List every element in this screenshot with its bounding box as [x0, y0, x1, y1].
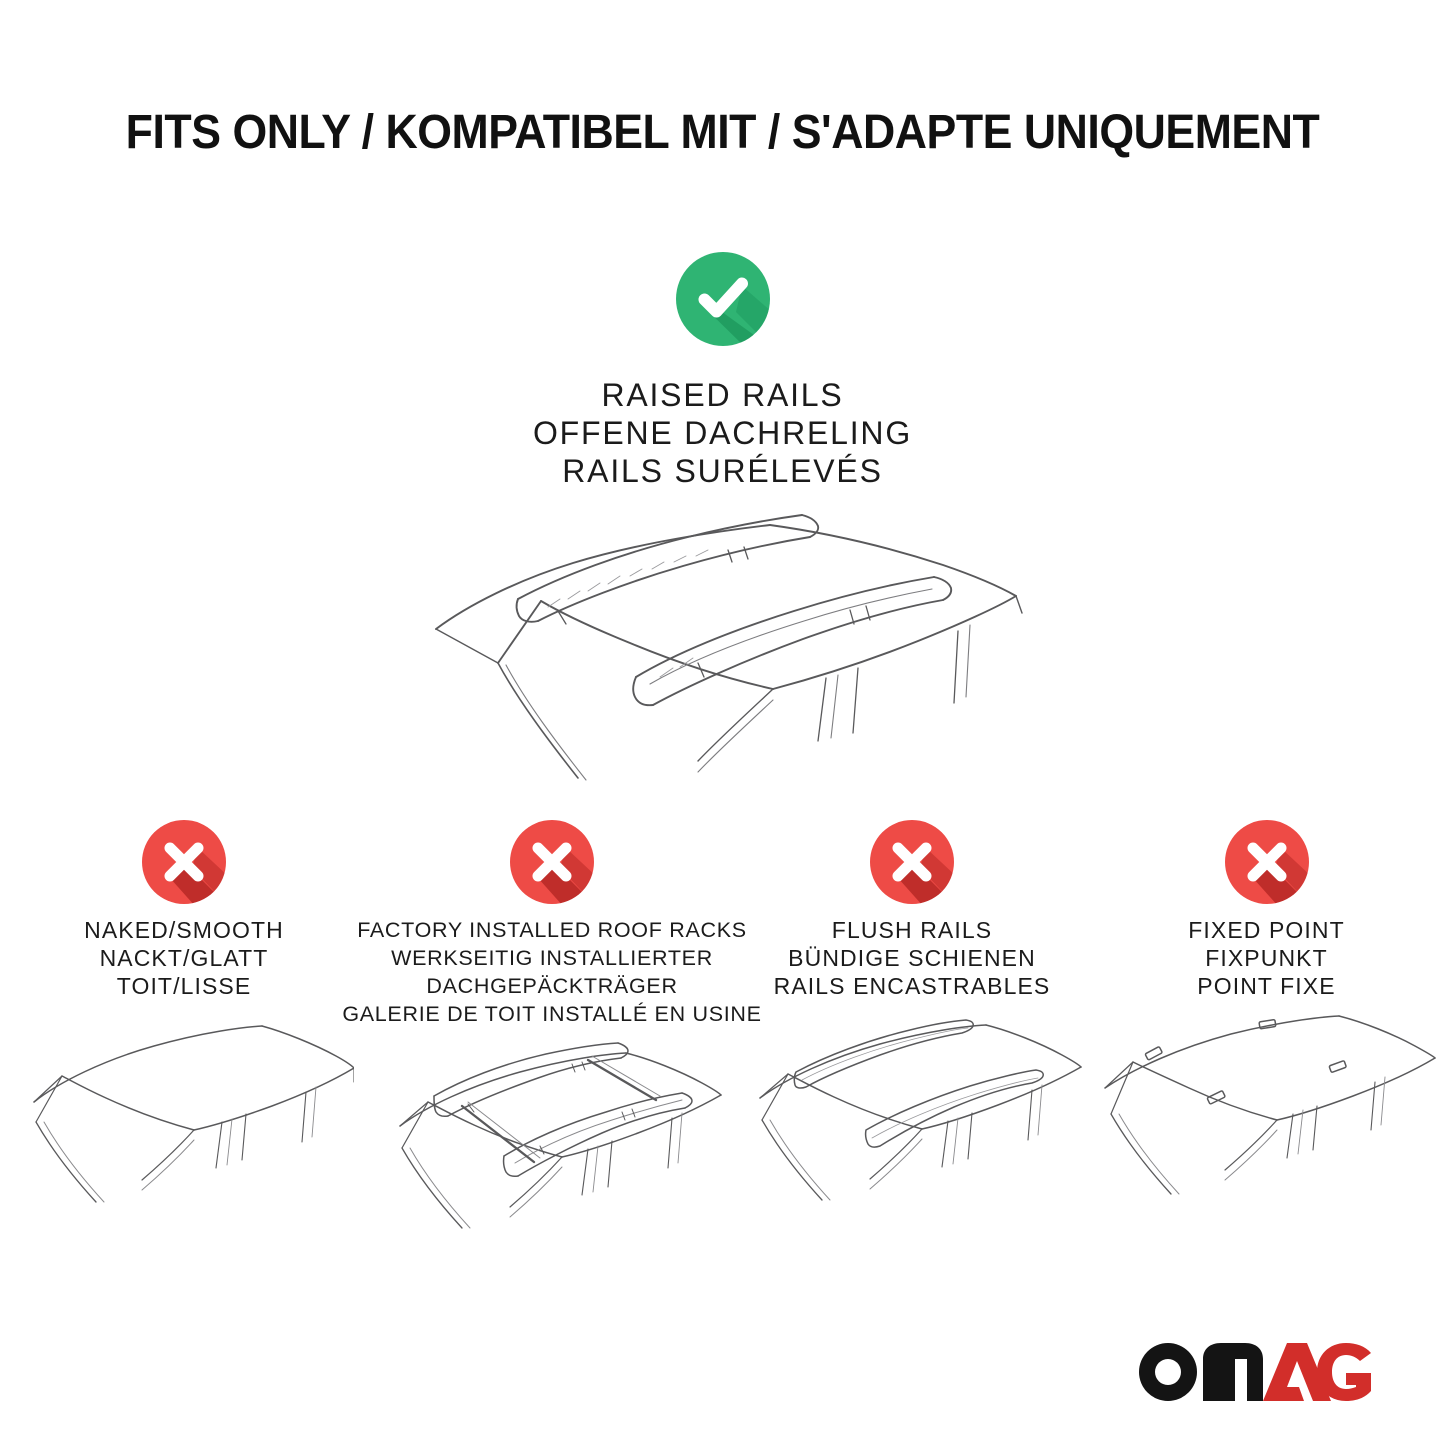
x-circle-icon	[1223, 818, 1311, 906]
compatible-labels: RAISED RAILS OFFENE DACHRELING RAILS SUR…	[533, 376, 912, 490]
compatible-label-de: OFFENE DACHRELING	[533, 414, 912, 452]
incompatible-item-naked-smooth: NAKED/SMOOTH NACKT/GLATT TOIT/LISSE	[0, 818, 368, 1240]
incompatible-item-factory-roof-racks: FACTORY INSTALLED ROOF RACKS WERKSEITIG …	[368, 818, 736, 1268]
label-de-2: DACHGEPÄCKTRÄGER	[342, 972, 761, 1000]
page-title: FITS ONLY / KOMPATIBEL MIT / S'ADAPTE UN…	[0, 104, 1445, 162]
incompatible-labels-fixed-point: FIXED POINT FIXPUNKT POINT FIXE	[1188, 916, 1345, 1000]
compatible-label-fr: RAILS SURÉLEVÉS	[533, 452, 912, 490]
incompatible-labels-naked-smooth: NAKED/SMOOTH NACKT/GLATT TOIT/LISSE	[84, 916, 284, 1000]
x-circle-icon	[508, 818, 596, 906]
label-de: FIXPUNKT	[1188, 944, 1345, 972]
compatible-section: RAISED RAILS OFFENE DACHRELING RAILS SUR…	[0, 250, 1445, 490]
label-de: NACKT/GLATT	[84, 944, 284, 972]
x-circle-icon	[140, 818, 228, 906]
label-fr: POINT FIXE	[1188, 972, 1345, 1000]
incompatible-labels-flush-rails: FLUSH RAILS BÜNDIGE SCHIENEN RAILS ENCAS…	[774, 916, 1051, 1000]
car-roof-raised-rails-diagram	[398, 495, 1038, 795]
label-fr: RAILS ENCASTRABLES	[774, 972, 1051, 1000]
label-fr: TOIT/LISSE	[84, 972, 284, 1000]
car-roof-factory-roof-racks-diagram	[382, 1038, 722, 1268]
incompatible-labels-factory-roof-racks: FACTORY INSTALLED ROOF RACKS WERKSEITIG …	[342, 916, 761, 1028]
label-fr: GALERIE DE TOIT INSTALLÉ EN USINE	[342, 1000, 761, 1028]
check-circle-icon	[674, 250, 772, 348]
incompatible-item-fixed-point: FIXED POINT FIXPUNKT POINT FIXE	[1088, 818, 1445, 1240]
label-en: FACTORY INSTALLED ROOF RACKS	[342, 916, 761, 944]
incompatible-section: NAKED/SMOOTH NACKT/GLATT TOIT/LISSE	[0, 818, 1445, 1268]
incompatible-item-flush-rails: FLUSH RAILS BÜNDIGE SCHIENEN RAILS ENCAS…	[736, 818, 1088, 1240]
car-roof-flush-rails-diagram	[742, 1010, 1082, 1240]
car-roof-naked-smooth-diagram	[14, 1010, 354, 1240]
label-de-1: WERKSEITIG INSTALLIERTER	[342, 944, 761, 972]
label-en: FLUSH RAILS	[774, 916, 1051, 944]
x-circle-icon	[868, 818, 956, 906]
omac-logo	[1137, 1341, 1373, 1403]
label-en: FIXED POINT	[1188, 916, 1345, 944]
page-title-text: FITS ONLY / KOMPATIBEL MIT / S'ADAPTE UN…	[51, 104, 1395, 162]
compatible-label-en: RAISED RAILS	[533, 376, 912, 414]
car-roof-fixed-point-diagram	[1097, 1010, 1437, 1240]
label-de: BÜNDIGE SCHIENEN	[774, 944, 1051, 972]
label-en: NAKED/SMOOTH	[84, 916, 284, 944]
